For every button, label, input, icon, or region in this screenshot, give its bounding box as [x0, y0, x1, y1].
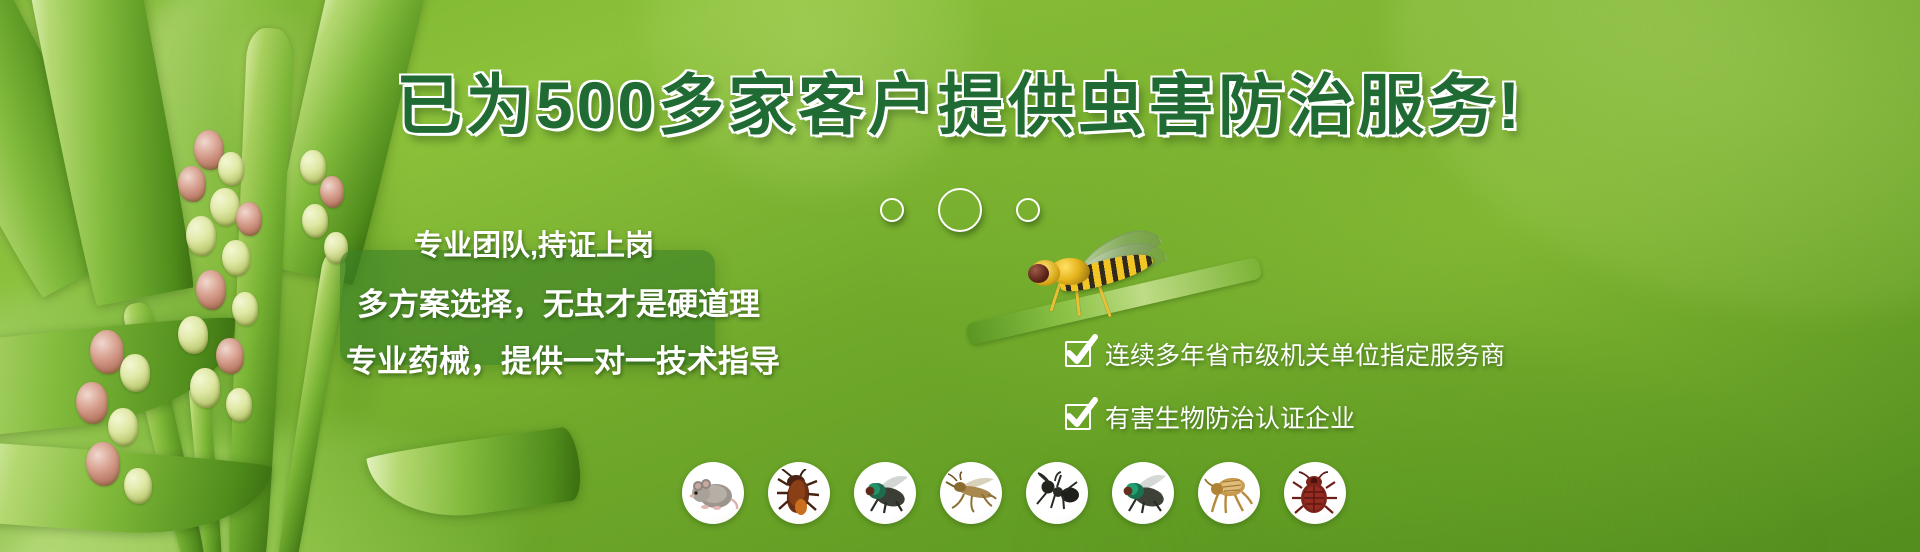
checklist-item-label: 有害生物防治认证企业 — [1105, 399, 1355, 435]
banner-headline: 已为500多家客户提供虫害防治服务! — [0, 72, 1920, 138]
small-dot-icon — [880, 198, 904, 222]
info-line-3: 专业药械，提供一对一技术指导 — [346, 346, 780, 377]
pest-icon-row — [682, 462, 1346, 524]
checklist-item: 连续多年省市级机关单位指定服务商 — [1065, 336, 1505, 372]
ant-icon — [1026, 462, 1088, 524]
checklist-item-label: 连续多年省市级机关单位指定服务商 — [1105, 336, 1505, 372]
pest-control-banner: 已为500多家客户提供虫害防治服务! 专业团队,持证上岗 多方案选择，无虫才是硬… — [0, 0, 1920, 552]
mosquito-icon — [940, 462, 1002, 524]
small-dot-icon — [1016, 198, 1040, 222]
large-dot-icon — [938, 188, 982, 232]
flea-icon — [1198, 462, 1260, 524]
info-line-2: 多方案选择，无虫才是硬道理 — [357, 289, 760, 320]
checklist-item: 有害生物防治认证企业 — [1065, 399, 1505, 435]
credentials-checklist: 连续多年省市级机关单位指定服务商 有害生物防治认证企业 — [1065, 336, 1505, 462]
hoverfly-on-stem — [1024, 238, 1174, 324]
cockroach-icon — [768, 462, 830, 524]
housefly-icon — [854, 462, 916, 524]
checkbox-checked-icon — [1065, 404, 1091, 430]
decorative-dots — [0, 188, 1920, 232]
rodent-icon — [682, 462, 744, 524]
checkbox-checked-icon — [1065, 341, 1091, 367]
bedbug-icon — [1284, 462, 1346, 524]
info-line-1: 专业团队,持证上岗 — [414, 232, 654, 261]
greenbottle-fly-icon — [1112, 462, 1174, 524]
